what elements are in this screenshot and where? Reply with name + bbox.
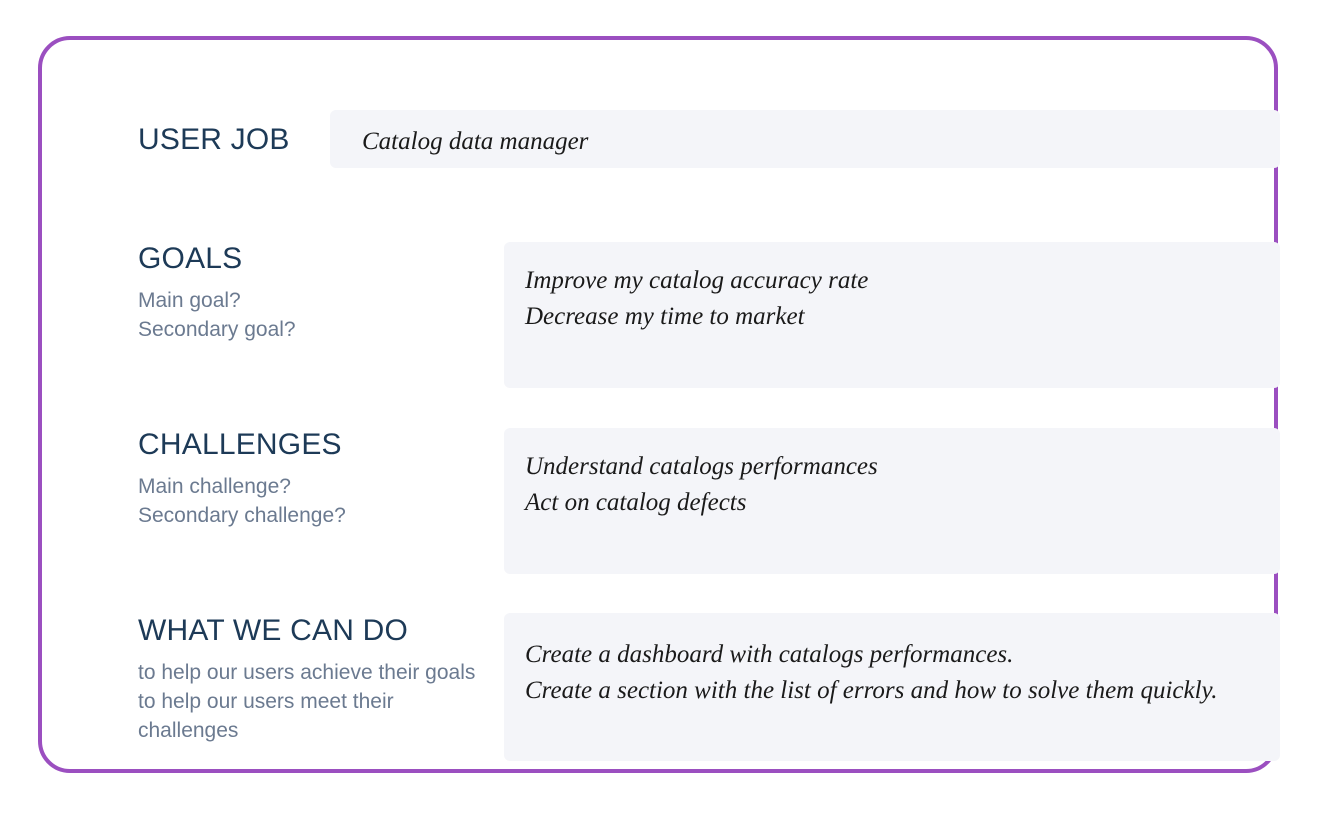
challenges-prompt-main: Main challenge?	[138, 473, 478, 502]
challenges-heading: CHALLENGES	[138, 428, 478, 461]
challenges-label-column: CHALLENGES Main challenge? Secondary cha…	[138, 428, 478, 531]
what-we-can-do-answer-challenges: Create a section with the list of errors…	[525, 673, 1218, 709]
goals-label-column: GOALS Main goal? Secondary goal?	[138, 242, 478, 345]
what-we-can-do-label-column: WHAT WE CAN DO to help our users achieve…	[138, 614, 486, 746]
goals-prompt-secondary: Secondary goal?	[138, 316, 478, 345]
what-we-can-do-prompt-goals: to help our users achieve their goals	[138, 659, 486, 688]
goals-answer-main: Improve my catalog accuracy rate	[525, 263, 868, 299]
user-job-heading: USER JOB	[138, 123, 290, 156]
goals-answer-text: Improve my catalog accuracy rate Decreas…	[525, 263, 868, 334]
what-we-can-do-answer-goals: Create a dashboard with catalogs perform…	[525, 637, 1218, 673]
challenges-prompts: Main challenge? Secondary challenge?	[138, 473, 478, 531]
persona-card: USER JOB Catalog data manager GOALS Main…	[38, 36, 1278, 773]
challenges-answer-secondary: Act on catalog defects	[525, 485, 878, 521]
what-we-can-do-prompts: to help our users achieve their goals to…	[138, 659, 486, 746]
what-we-can-do-heading: WHAT WE CAN DO	[138, 614, 486, 647]
persona-canvas: USER JOB Catalog data manager GOALS Main…	[0, 0, 1330, 828]
challenges-prompt-secondary: Secondary challenge?	[138, 502, 478, 531]
user-job-value-text: Catalog data manager	[362, 124, 588, 160]
user-job-value-panel[interactable]: Catalog data manager	[330, 110, 1280, 168]
challenges-answer-main: Understand catalogs performances	[525, 449, 878, 485]
challenges-answer-text: Understand catalogs performances Act on …	[525, 449, 878, 520]
what-we-can-do-answer-panel[interactable]: Create a dashboard with catalogs perform…	[504, 613, 1280, 761]
challenges-answer-panel[interactable]: Understand catalogs performances Act on …	[504, 428, 1280, 574]
goals-answer-secondary: Decrease my time to market	[525, 299, 868, 335]
what-we-can-do-answer-text: Create a dashboard with catalogs perform…	[525, 637, 1218, 708]
goals-prompts: Main goal? Secondary goal?	[138, 287, 478, 345]
goals-prompt-main: Main goal?	[138, 287, 478, 316]
what-we-can-do-prompt-challenges: to help our users meet their challenges	[138, 688, 486, 746]
goals-answer-panel[interactable]: Improve my catalog accuracy rate Decreas…	[504, 242, 1280, 388]
goals-heading: GOALS	[138, 242, 478, 275]
